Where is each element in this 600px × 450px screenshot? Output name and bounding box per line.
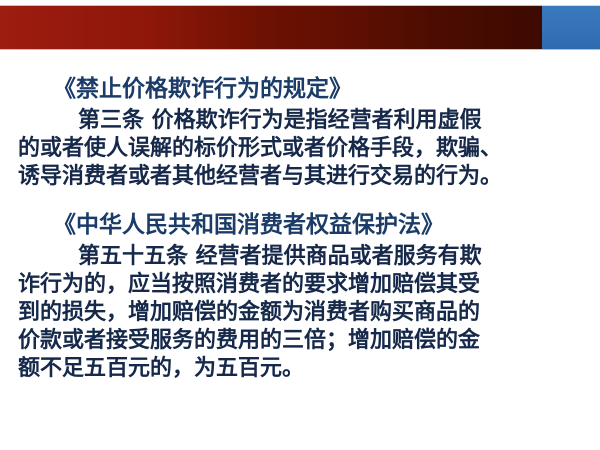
law-line: 的或者使人误解的标价形式或者价格手段，欺骗、 [18, 134, 586, 162]
slide-canvas: 《禁止价格欺诈行为的规定》 第三条 价格欺诈行为是指经营者利用虚假 的或者使人误… [0, 0, 600, 450]
law-section-2: 《中华人民共和国消费者权益保护法》 第五十五条 经营者提供商品或者服务有欺 诈行… [18, 210, 586, 382]
law-line: 第五十五条 经营者提供商品或者服务有欺 [18, 242, 586, 270]
law-body-1: 第三条 价格欺诈行为是指经营者利用虚假 的或者使人误解的标价形式或者价格手段，欺… [18, 106, 586, 190]
law-line: 诈行为的，应当按照消费者的要求增加赔偿其受 [18, 270, 586, 298]
law-title-2: 《中华人民共和国消费者权益保护法》 [18, 210, 586, 240]
banner-blue-block [542, 5, 600, 50]
law-line: 第三条 价格欺诈行为是指经营者利用虚假 [18, 106, 586, 134]
law-line: 到的损失，增加赔偿的金额为消费者购买商品的 [18, 298, 586, 326]
law-title-1: 《禁止价格欺诈行为的规定》 [18, 74, 586, 104]
law-line: 价款或者接受服务的费用的三倍；增加赔偿的金 [18, 326, 586, 354]
law-section-1: 《禁止价格欺诈行为的规定》 第三条 价格欺诈行为是指经营者利用虚假 的或者使人误… [18, 74, 586, 190]
slide-content: 《禁止价格欺诈行为的规定》 第三条 价格欺诈行为是指经营者利用虚假 的或者使人误… [18, 74, 586, 382]
law-line: 诱导消费者或者其他经营者与其进行交易的行为。 [18, 162, 586, 190]
banner-red-gradient [0, 5, 542, 50]
header-banner [0, 5, 600, 50]
law-line: 额不足五百元的，为五百元。 [18, 354, 586, 382]
law-body-2: 第五十五条 经营者提供商品或者服务有欺 诈行为的，应当按照消费者的要求增加赔偿其… [18, 242, 586, 382]
